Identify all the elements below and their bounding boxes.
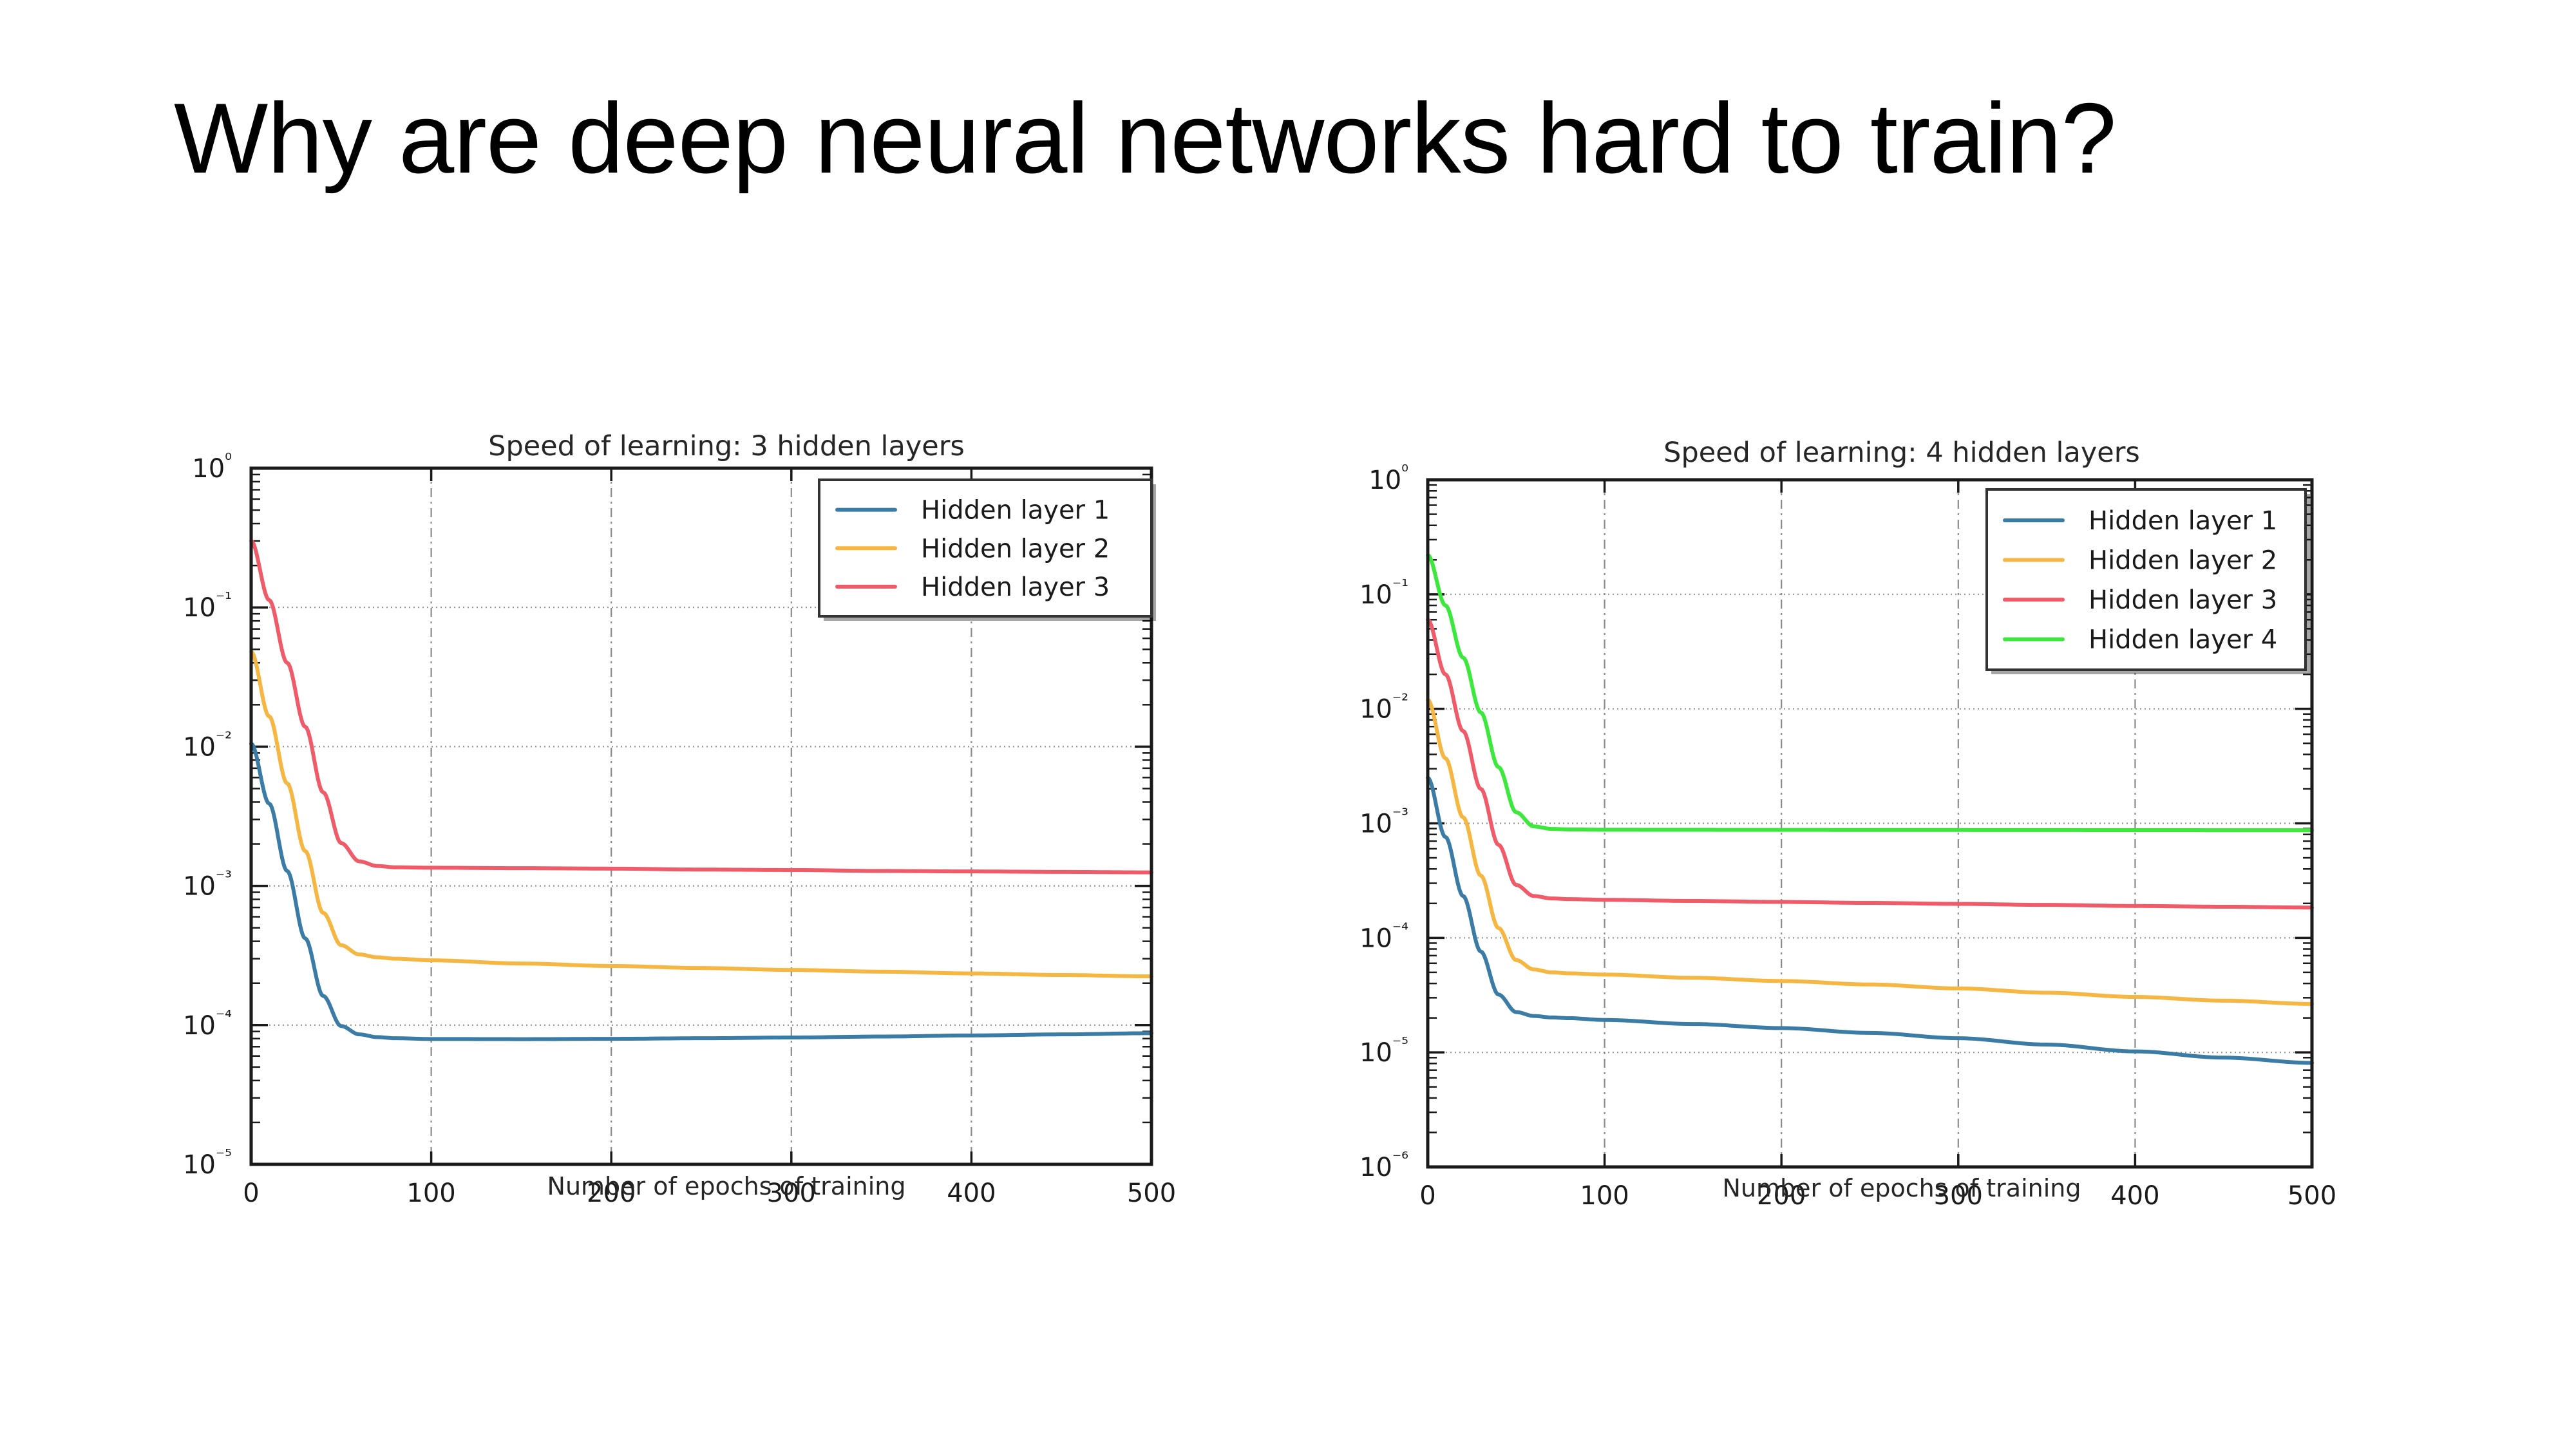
svg-text:10⁰: 10⁰ — [1368, 462, 1408, 495]
plot-area-right: 10⁰10⁻¹10⁻²10⁻³10⁻⁴10⁻⁵10⁻⁶0100200300400… — [1351, 430, 2382, 1267]
legend-label: Hidden layer 3 — [921, 573, 1110, 602]
svg-text:10⁻²: 10⁻² — [1359, 691, 1408, 724]
legend-label: Hidden layer 1 — [921, 496, 1110, 526]
chart-legend: Hidden layer 1Hidden layer 2Hidden layer… — [819, 480, 1156, 621]
legend-label: Hidden layer 2 — [921, 534, 1110, 563]
chart-xlabel-left: Number of epochs of training — [173, 1172, 1203, 1200]
svg-text:10⁻⁴: 10⁻⁴ — [1359, 920, 1408, 953]
svg-text:10⁻¹: 10⁻¹ — [183, 589, 232, 623]
series-line-1 — [1428, 778, 2312, 1063]
chart-3-hidden-layers: Speed of learning: 3 hidden layers 10⁰10… — [173, 425, 1203, 1262]
svg-text:10⁻¹: 10⁻¹ — [1359, 576, 1408, 610]
legend-label: Hidden layer 2 — [2088, 546, 2277, 576]
series-line-2 — [251, 652, 1151, 976]
svg-text:10⁻³: 10⁻³ — [183, 868, 232, 902]
svg-text:10⁻²: 10⁻² — [183, 728, 232, 762]
legend-label: Hidden layer 3 — [2088, 585, 2277, 615]
chart-4-hidden-layers: Speed of learning: 4 hidden layers 10⁰10… — [1351, 430, 2382, 1267]
page-title: Why are deep neural networks hard to tra… — [174, 84, 2428, 194]
svg-text:10⁰: 10⁰ — [192, 450, 232, 484]
plot-area-left: 10⁰10⁻¹10⁻²10⁻³10⁻⁴10⁻⁵0100200300400500H… — [173, 425, 1203, 1262]
chart-legend: Hidden layer 1Hidden layer 2Hidden layer… — [1987, 489, 2310, 674]
svg-text:10⁻⁵: 10⁻⁵ — [1359, 1034, 1408, 1068]
legend-label: Hidden layer 4 — [2088, 625, 2277, 655]
svg-text:10⁻³: 10⁻³ — [1359, 806, 1408, 839]
legend-label: Hidden layer 1 — [2088, 506, 2277, 536]
svg-text:10⁻⁴: 10⁻⁴ — [183, 1007, 232, 1041]
series-line-2 — [1428, 700, 2312, 1004]
chart-xlabel-right: Number of epochs of training — [1351, 1174, 2382, 1202]
series-line-1 — [251, 744, 1151, 1039]
